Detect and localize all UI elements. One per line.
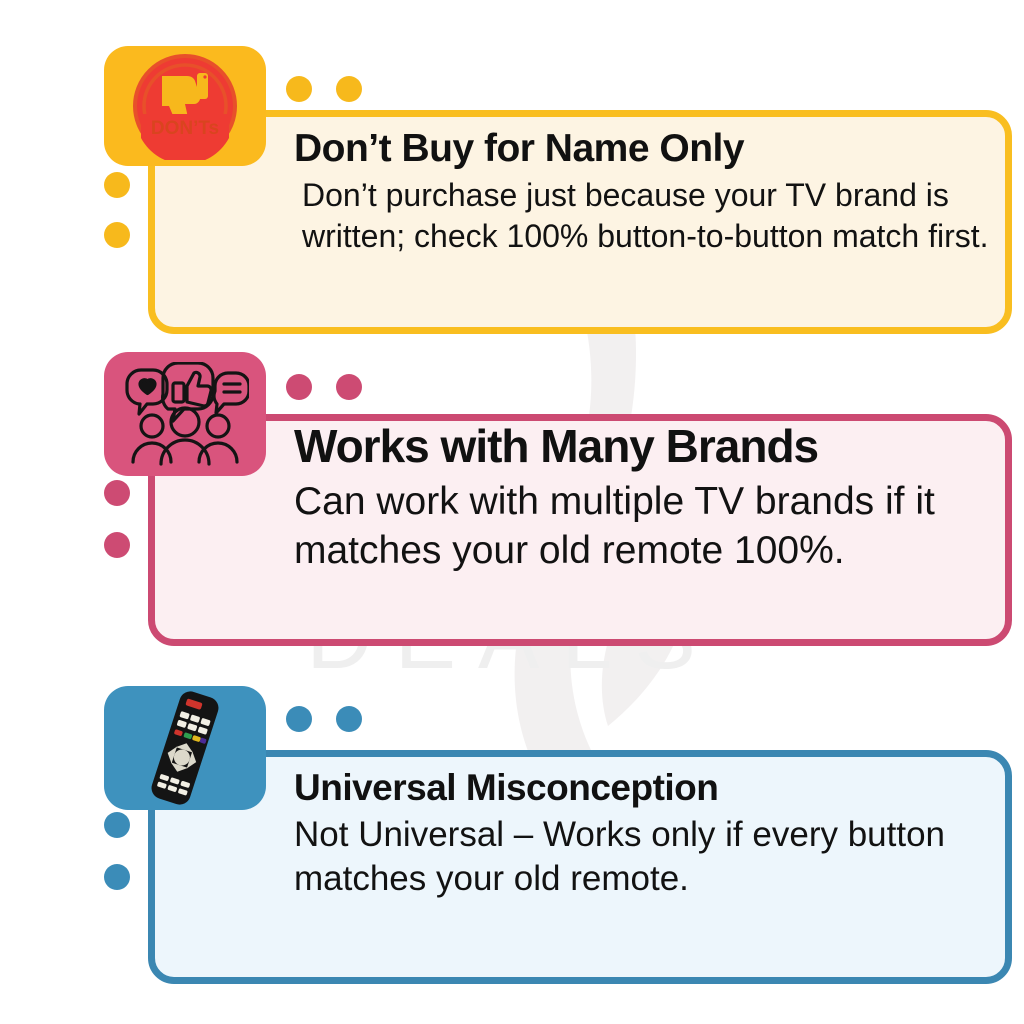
- infographic-card-stack: DON’Ts Don’t Buy for Name Only Don’t pur…: [0, 0, 1024, 1024]
- decor-dot: [336, 706, 362, 732]
- card-description: Not Universal – Works only if every butt…: [294, 813, 994, 901]
- card-title: Works with Many Brands: [294, 422, 994, 471]
- card-many-brands: Works with Many Brands Can work with mul…: [0, 352, 1024, 652]
- card-title: Don’t Buy for Name Only: [294, 128, 994, 169]
- decor-dot: [336, 374, 362, 400]
- decor-dot: [104, 864, 130, 890]
- card-description: Can work with multiple TV brands if it m…: [294, 477, 994, 575]
- card-text-universal: Universal Misconception Not Universal – …: [294, 768, 994, 901]
- decor-dot: [104, 532, 130, 558]
- decor-dot: [104, 222, 130, 248]
- card-text-donts: Don’t Buy for Name Only Don’t purchase j…: [294, 128, 994, 256]
- card-icon-badge-many-brands[interactable]: [104, 352, 266, 476]
- decor-dot: [104, 812, 130, 838]
- card-text-many-brands: Works with Many Brands Can work with mul…: [294, 422, 994, 575]
- people-feedback-icon: [121, 362, 249, 466]
- decor-dot: [336, 76, 362, 102]
- tv-remote-icon: [125, 690, 245, 806]
- donts-thumbs-down-icon: DON’Ts: [131, 52, 239, 160]
- card-icon-badge-donts[interactable]: DON’Ts: [104, 46, 266, 166]
- decor-dot: [286, 374, 312, 400]
- decor-dot: [286, 76, 312, 102]
- card-title: Universal Misconception: [294, 768, 994, 807]
- decor-dot: [104, 480, 130, 506]
- card-icon-badge-universal[interactable]: [104, 686, 266, 810]
- donts-badge-label: DON’Ts: [151, 118, 219, 139]
- decor-dot: [286, 706, 312, 732]
- card-description: Don’t purchase just because your TV bran…: [294, 175, 994, 256]
- decor-dot: [104, 172, 130, 198]
- card-donts: DON’Ts Don’t Buy for Name Only Don’t pur…: [0, 24, 1024, 334]
- card-universal-misconception: Universal Misconception Not Universal – …: [0, 680, 1024, 992]
